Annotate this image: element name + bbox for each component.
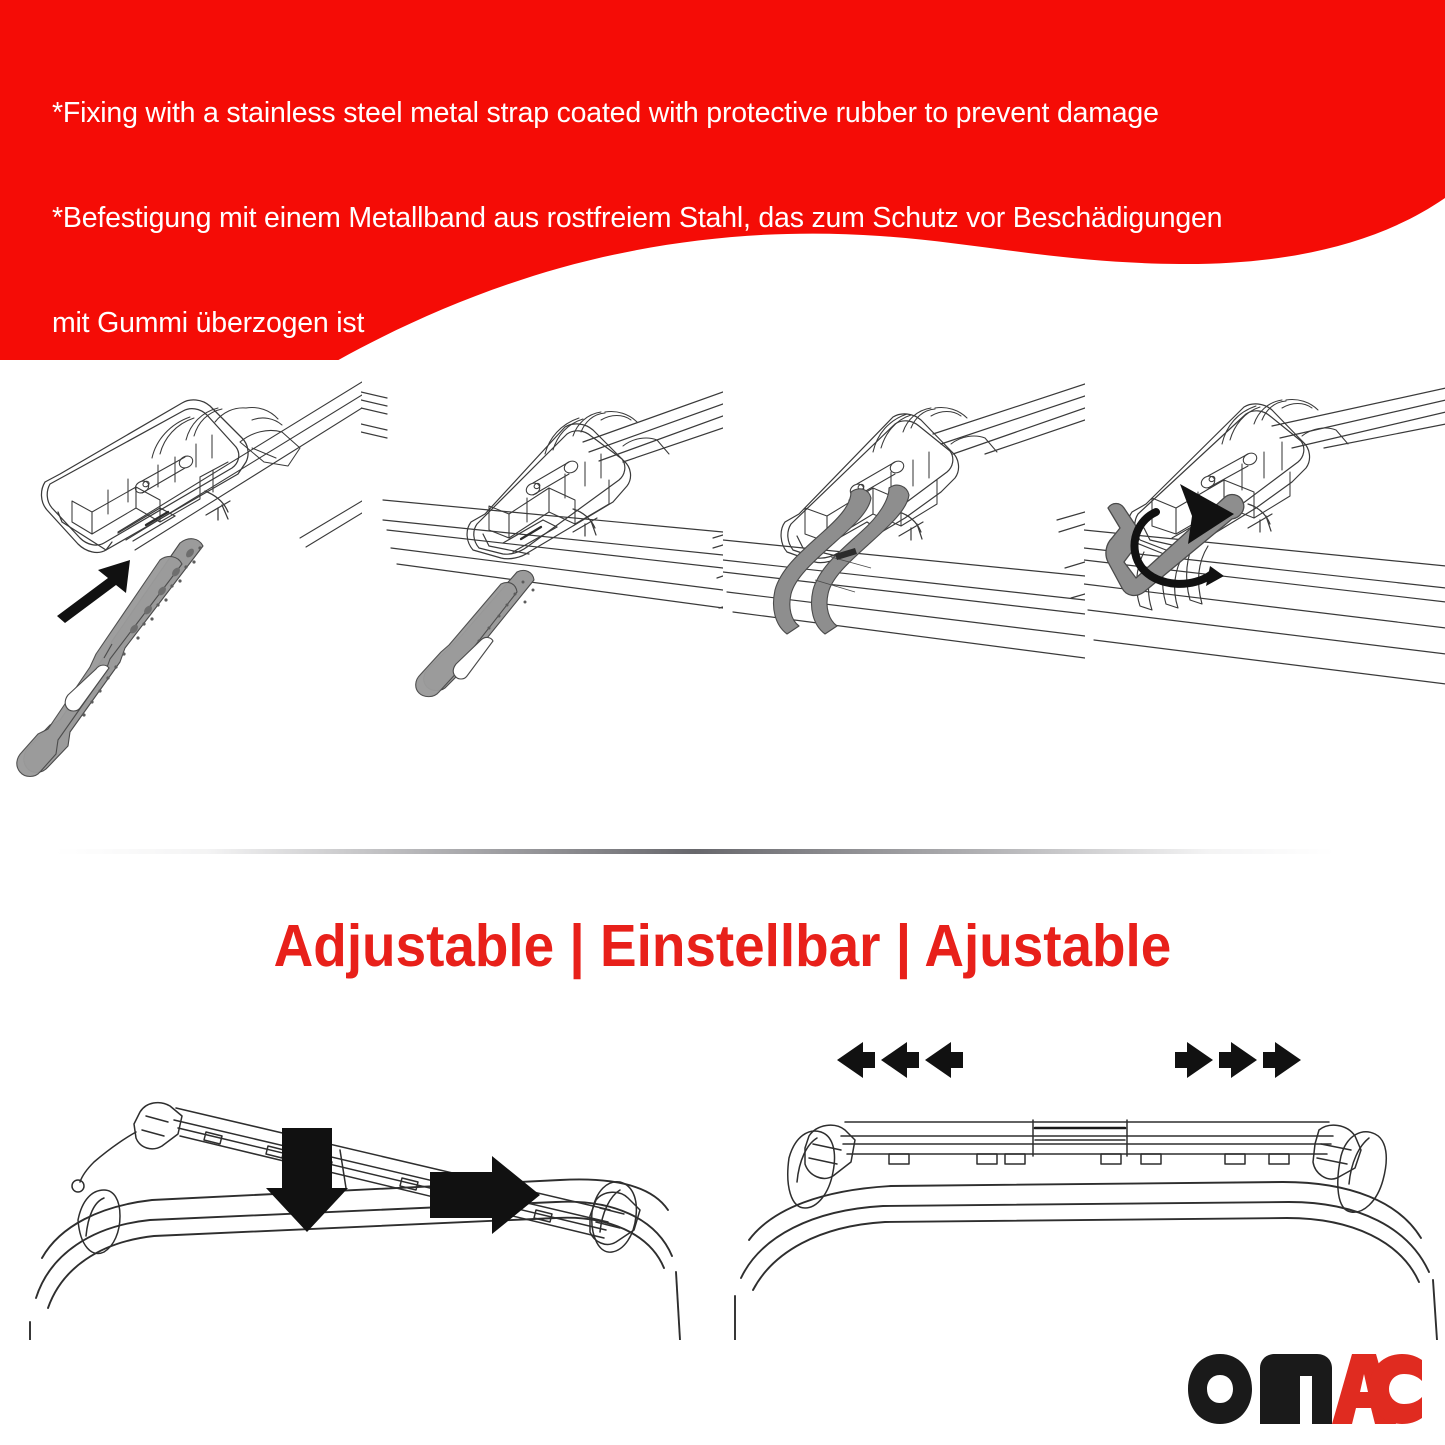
up-arrow-icon xyxy=(57,560,130,623)
rack-foot-internal xyxy=(1152,399,1348,534)
install-panel-2 xyxy=(361,362,722,812)
banner-line-de-2: mit Gummi überzogen ist xyxy=(52,306,1432,341)
crossbar-foot-left xyxy=(805,1125,855,1178)
red-banner: *Fixing with a stainless steel metal str… xyxy=(0,0,1445,360)
triple-left-arrow-icon xyxy=(837,1042,963,1078)
adjustable-figure-right xyxy=(723,1040,1445,1340)
install-panel-3 xyxy=(723,362,1084,812)
crossbar-foot-right xyxy=(1313,1125,1361,1179)
infographic-page: *Fixing with a stainless steel metal str… xyxy=(0,0,1445,1445)
rail-stub-left xyxy=(361,392,387,438)
logo-letter-m xyxy=(1260,1354,1332,1424)
adjustable-figures xyxy=(0,1040,1445,1340)
section-divider xyxy=(55,849,1335,854)
rack-foot-shell xyxy=(41,400,248,553)
install-panel-4 xyxy=(1084,362,1445,812)
adjustable-figure-left xyxy=(0,1040,723,1340)
logo-letter-o xyxy=(1188,1354,1252,1424)
crossbar-foot-left xyxy=(134,1103,182,1149)
roof-rail-upper xyxy=(583,392,723,462)
roof-rail xyxy=(118,382,362,550)
roof-rail-main xyxy=(383,500,723,608)
rack-foot-internal xyxy=(72,407,300,534)
lock-key-wire xyxy=(72,1132,136,1192)
crossbar xyxy=(841,1120,1333,1164)
banner-line-en-1: *Fixing with a stainless steel metal str… xyxy=(52,96,1432,131)
installation-step-panels xyxy=(0,362,1445,812)
install-panel-1 xyxy=(0,362,361,812)
roof-rail-end-left xyxy=(78,1190,120,1254)
adjustable-heading: Adjustable | Einstellbar | Ajustable xyxy=(51,912,1395,980)
triple-right-arrow-icon xyxy=(1175,1042,1301,1078)
roof-rail-upper xyxy=(933,384,1085,454)
rail-stub-right xyxy=(1057,512,1085,598)
banner-line-de-1: *Befestigung mit einem Metallband aus ro… xyxy=(52,201,1432,236)
car-roof-outline xyxy=(735,1182,1437,1340)
down-arrow-icon xyxy=(266,1128,348,1232)
metal-strap xyxy=(416,570,535,696)
roof-rail-end-left xyxy=(787,1131,834,1208)
omac-logo xyxy=(1186,1352,1424,1426)
rack-foot-shell xyxy=(1128,404,1309,555)
